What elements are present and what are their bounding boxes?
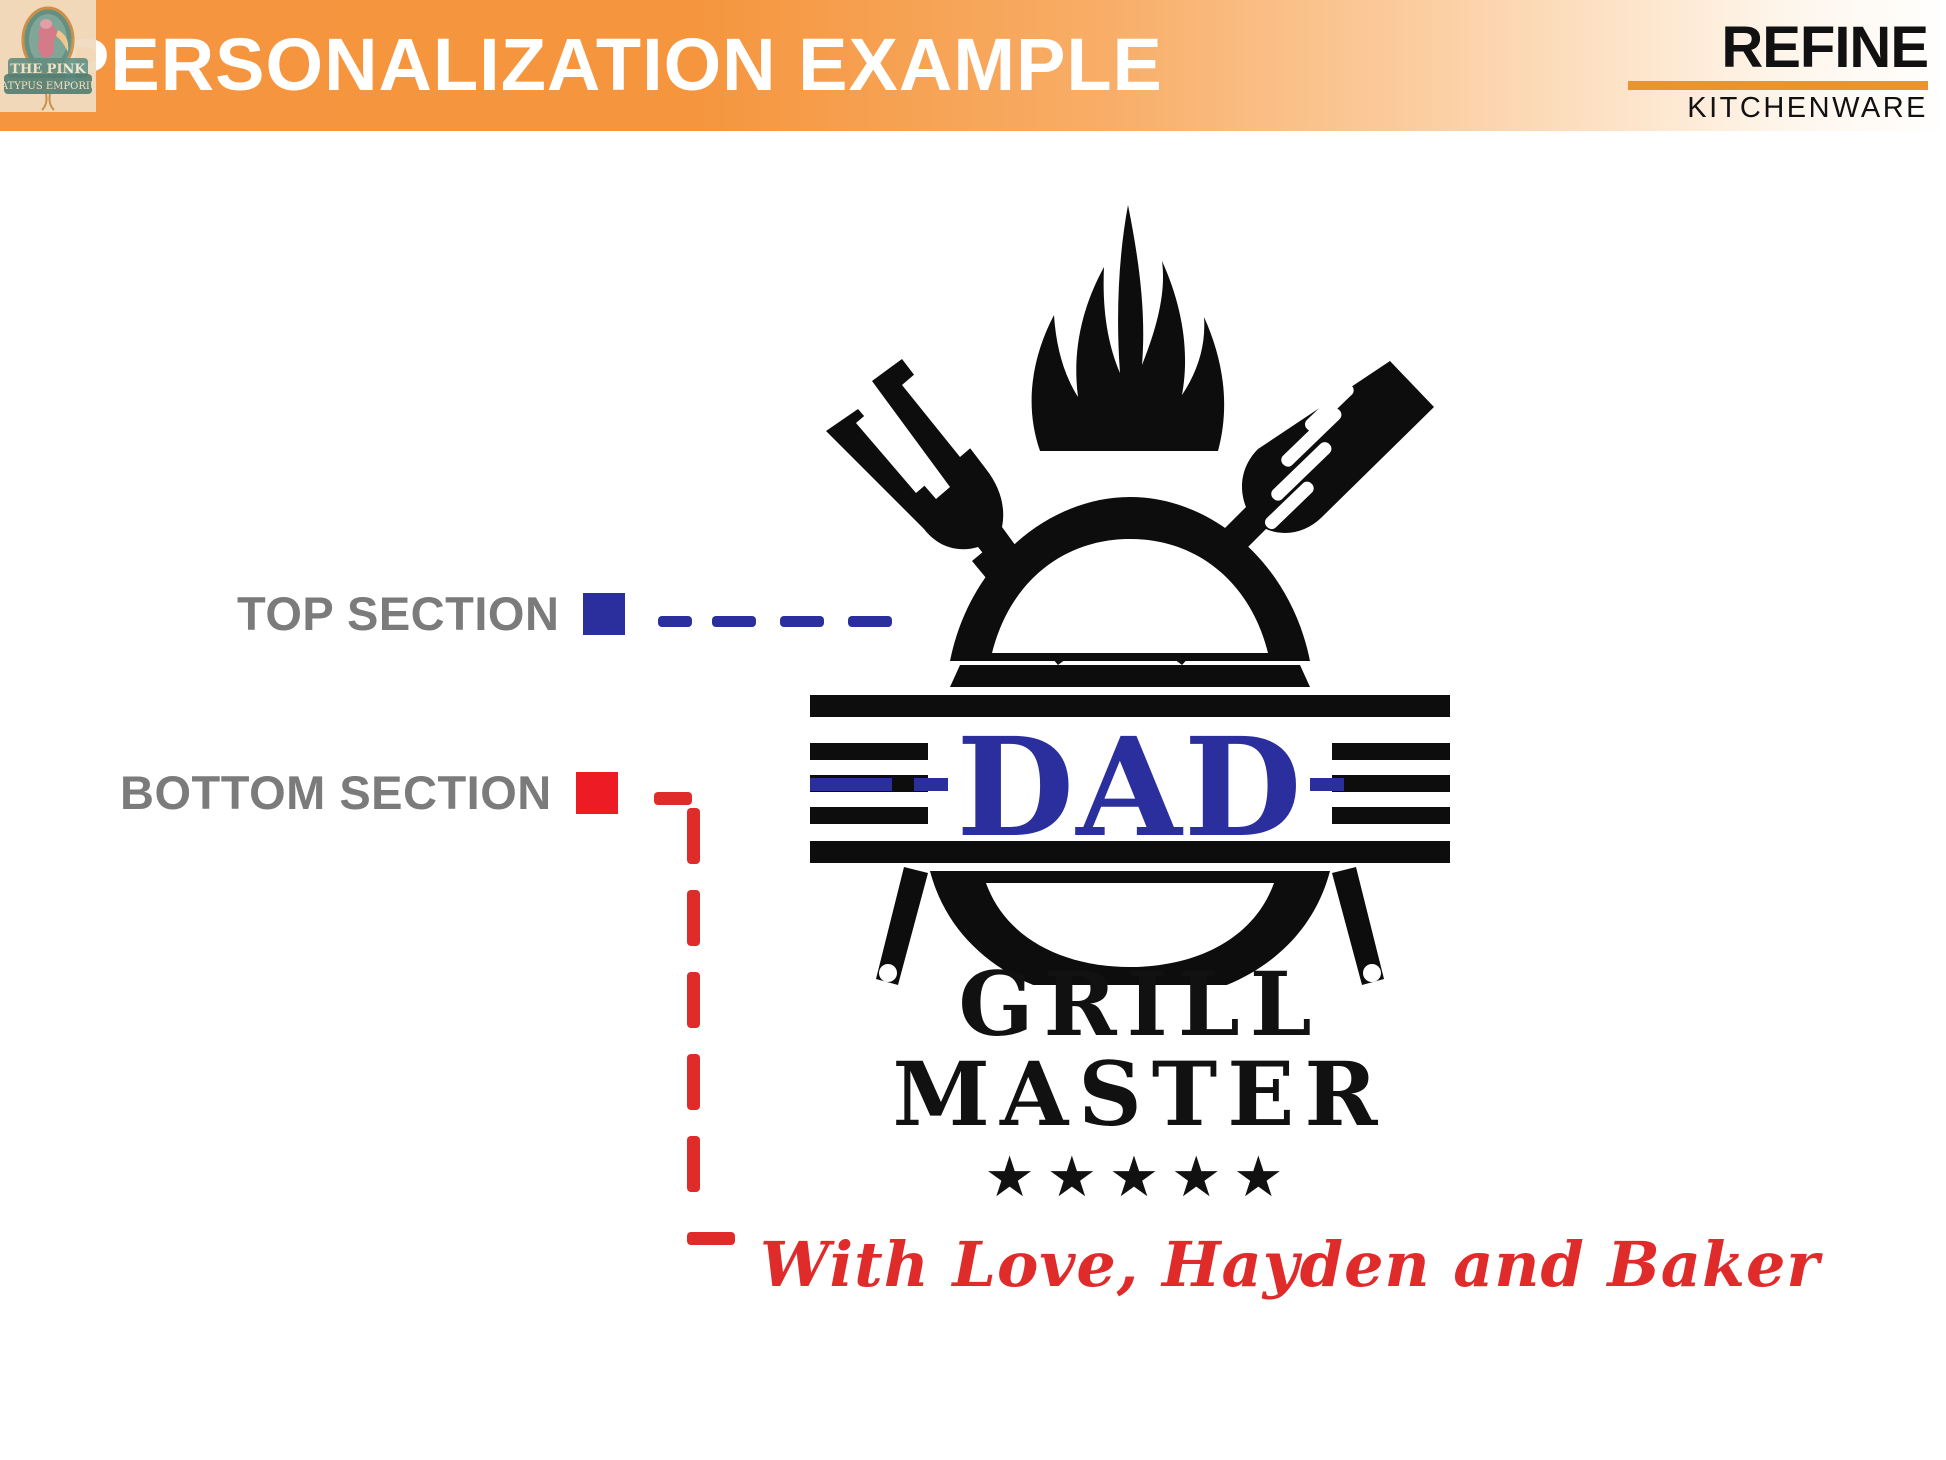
page-title: PERSONALIZATION EXAMPLE xyxy=(60,22,1163,107)
bottom-connector-arrow xyxy=(687,1232,735,1245)
callout-top-section-marker xyxy=(583,593,625,635)
star-rating-row: ★★★★★ xyxy=(790,1150,1490,1206)
brand-name: REFINE xyxy=(1628,20,1928,75)
headline-line-2: MASTER xyxy=(790,1050,1490,1140)
callout-bottom-section: BOTTOM SECTION xyxy=(120,765,618,820)
pink-platypus-emporium-logo-icon: THE PINK PLATYPUS EMPORIUM xyxy=(0,0,96,112)
personalized-top-text: DAD xyxy=(956,708,1303,868)
grill-emblem-svg: DAD xyxy=(810,195,1450,985)
top-connector-stub xyxy=(658,616,692,627)
bottom-connector-vdash-5 xyxy=(687,1136,700,1192)
brand-logo: REFINE KITCHENWARE xyxy=(1628,20,1928,123)
callout-bottom-section-marker xyxy=(576,772,618,814)
watermark-logo: THE PINK PLATYPUS EMPORIUM xyxy=(0,0,96,110)
callout-top-section: TOP SECTION xyxy=(237,586,625,641)
callout-top-section-label: TOP SECTION xyxy=(237,586,559,641)
brand-divider xyxy=(1628,81,1928,90)
top-connector-dash-1 xyxy=(712,616,756,627)
bottom-connector-stub xyxy=(654,792,692,805)
slide-canvas: PERSONALIZATION EXAMPLE THE PINK PLATYPU… xyxy=(0,0,1946,1460)
emblem-headline: GRILL MASTER ★★★★★ xyxy=(790,960,1490,1206)
brand-tagline: KITCHENWARE xyxy=(1628,94,1928,123)
callout-bottom-section-label: BOTTOM SECTION xyxy=(120,765,552,820)
headline-line-1: GRILL xyxy=(790,960,1490,1050)
personalized-bottom-text: With Love, Hayden and Baker xyxy=(760,1228,1540,1301)
bottom-connector-vdash-4 xyxy=(687,1054,700,1110)
watermark-line2: PLATYPUS EMPORIUM xyxy=(0,81,96,92)
bottom-connector-vdash-3 xyxy=(687,972,700,1028)
bottom-connector-vdash-1 xyxy=(687,808,700,864)
bbq-grill-flame-emblem-icon: DAD xyxy=(810,195,1450,985)
watermark-line1: THE PINK xyxy=(10,62,86,77)
bottom-connector-vdash-2 xyxy=(687,890,700,946)
